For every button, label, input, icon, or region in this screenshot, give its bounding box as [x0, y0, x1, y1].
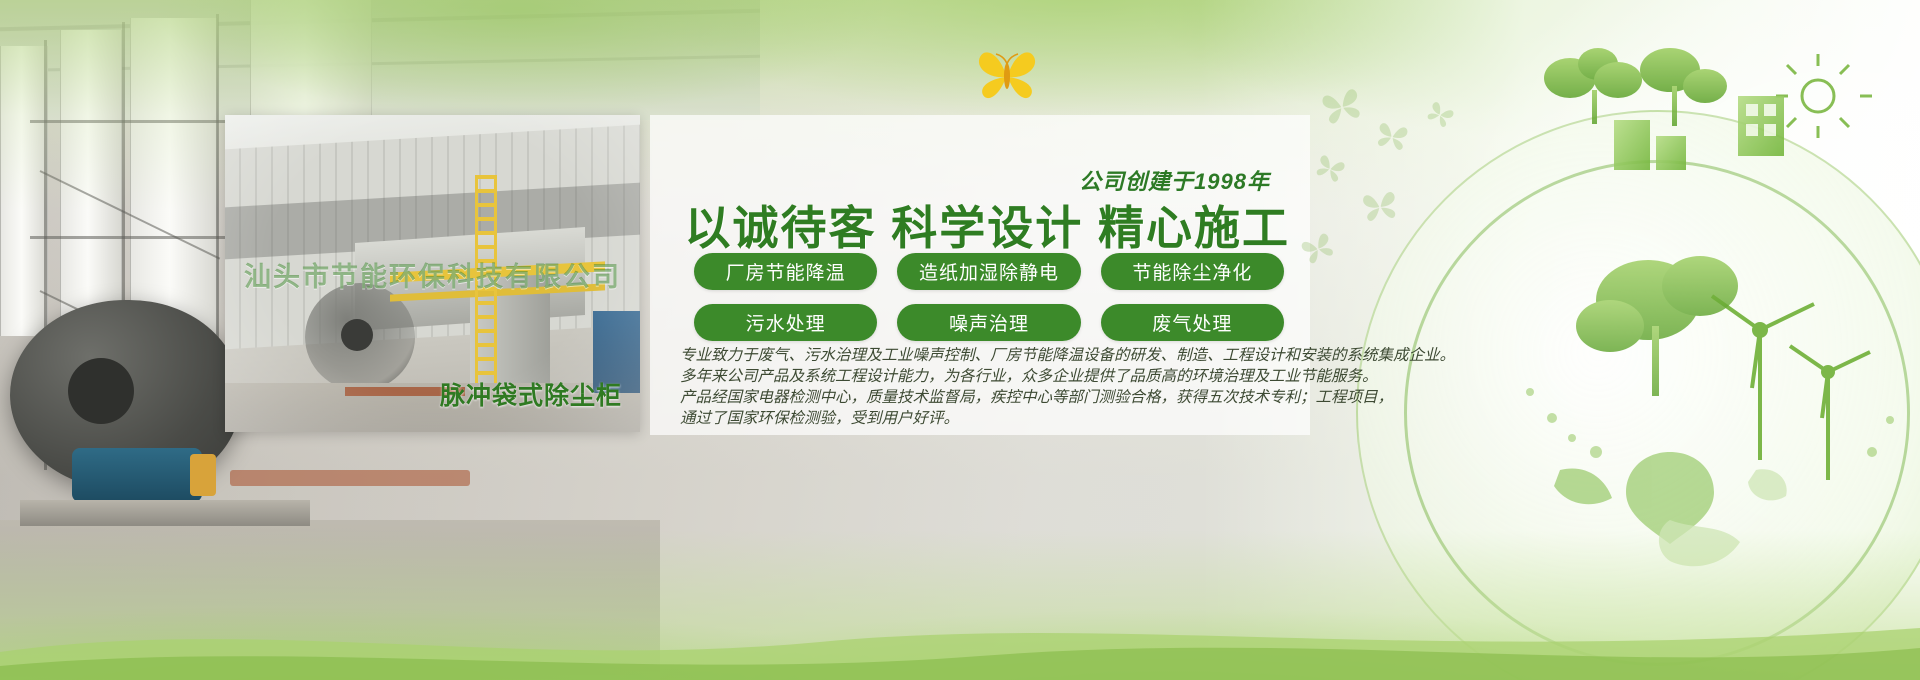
service-pill-sewage[interactable]: 污水处理 [694, 304, 877, 341]
product-photo-card: 汕头市节能环保科技有限公司 脉冲袋式除尘柜 [225, 115, 640, 432]
service-pill-exhaust-gas[interactable]: 废气处理 [1101, 304, 1284, 341]
service-pill-paper-humidify[interactable]: 造纸加湿除静电 [897, 253, 1080, 290]
butterfly-icon [1373, 119, 1411, 155]
equipment-base [20, 500, 310, 526]
service-pill-grid: 厂房节能降温 造纸加湿除静电 节能除尘净化 污水处理 噪声治理 废气处理 [694, 253, 1284, 341]
rust-streak [230, 470, 470, 486]
service-pill-factory-cooling[interactable]: 厂房节能降温 [694, 253, 877, 290]
hero-banner: 汕头市节能环保科技有限公司 脉冲袋式除尘柜 公司创建于1998年 以诚待客 科学… [0, 0, 1920, 680]
hero-headline: 以诚待客 科学设计 精心施工 [650, 192, 1290, 258]
service-pill-noise[interactable]: 噪声治理 [897, 304, 1080, 341]
bottom-wave-shape [0, 590, 1920, 680]
description-line: 产品经国家电器检测中心，质量技术监督局，疾控中心等部门测验合格，获得五次技术专利… [680, 387, 1305, 408]
company-description: 专业致力于废气、污水治理及工业噪声控制、厂房节能降温设备的研发、制造、工程设计和… [680, 345, 1305, 429]
photo-watermark: 汕头市节能环保科技有限公司 [225, 255, 640, 294]
electric-motor [72, 448, 202, 502]
butterfly-icon [1360, 188, 1400, 227]
description-line: 多年来公司产品及系统工程设计能力，为各行业，众多企业提供了品质高的环境治理及工业… [680, 366, 1305, 387]
description-line: 通过了国家环保检测验，受到用户好评。 [680, 408, 1305, 429]
service-pill-dust-purify[interactable]: 节能除尘净化 [1101, 253, 1284, 290]
photo-caption: 脉冲袋式除尘柜 [440, 376, 622, 412]
butterfly-icon [975, 45, 1039, 107]
description-line: 专业致力于废气、污水治理及工业噪声控制、厂房节能降温设备的研发、制造、工程设计和… [680, 345, 1305, 366]
scaffold-beam [30, 236, 230, 239]
